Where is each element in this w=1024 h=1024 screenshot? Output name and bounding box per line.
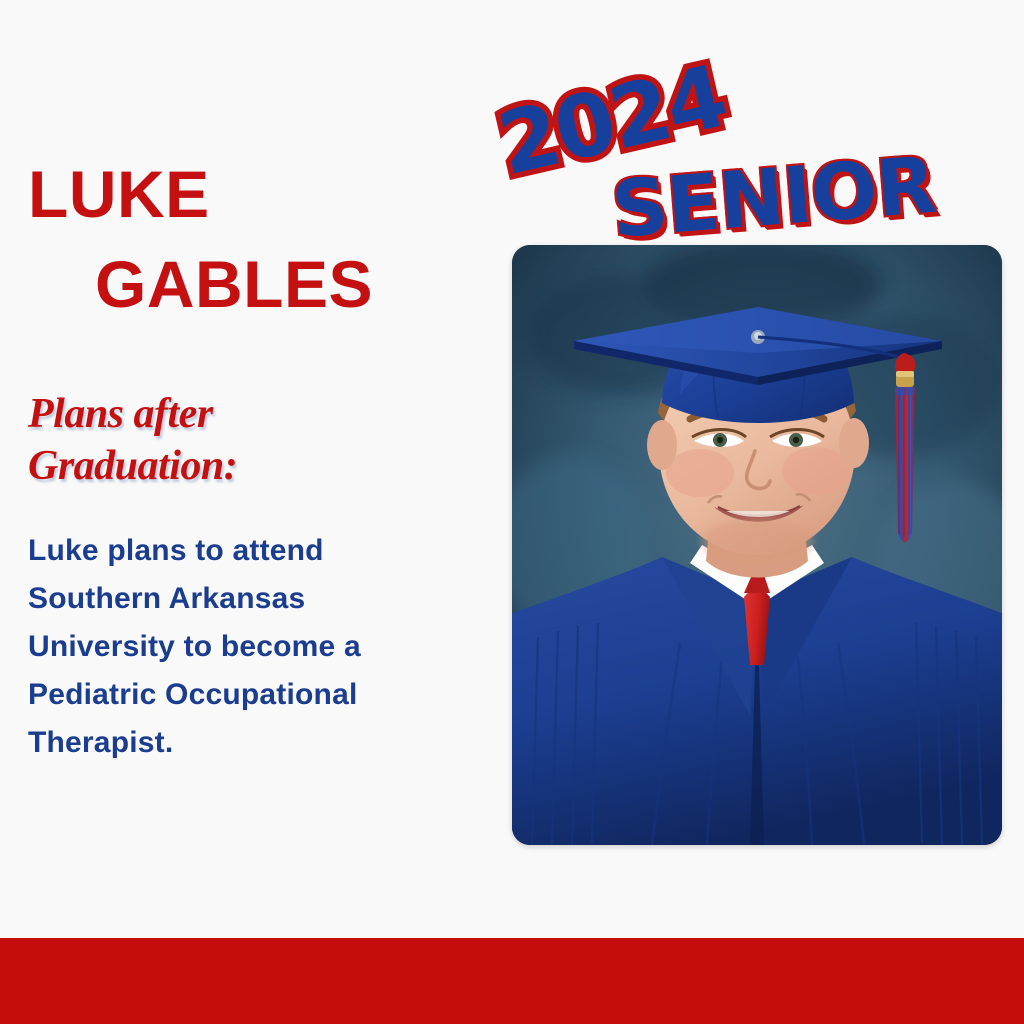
senior-poster: LUKE GABLES Plans after Graduation: Luke… [0,0,1024,1024]
footer-accent-bar [0,938,1024,1024]
plans-heading: Plans after Graduation: [28,388,458,494]
senior-badge: SENIOR [609,147,938,250]
page-title: LUKE GABLES [28,150,458,330]
plans-body-text: Luke plans to attend Southern Arkansas U… [28,527,428,767]
portrait-illustration [512,245,1002,845]
plans-heading-line-2: Graduation: [28,440,458,493]
student-portrait-photo [512,245,1002,845]
student-last-name: GABLES [10,240,458,330]
student-info-column: LUKE GABLES Plans after Graduation: Luke… [28,150,458,767]
student-first-name: LUKE [28,157,210,231]
plans-heading-line-1: Plans after [28,388,458,441]
